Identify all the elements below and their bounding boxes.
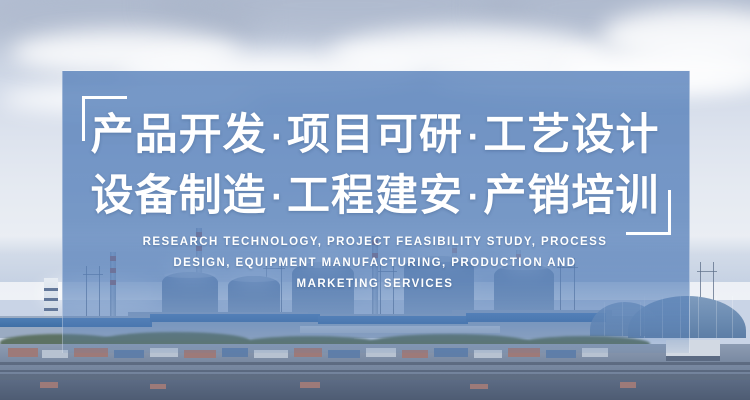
control-tower-band [44,308,58,311]
hangar-rib [698,296,699,338]
headline-separator-icon: · [267,120,287,155]
apartment-block-right-shadow [666,356,720,361]
subtitle-line-3: MARKETING SERVICES [140,274,610,295]
headline-segment-3: 工艺设计 [483,110,659,160]
headline-segment-5: 工程建安 [287,171,463,221]
subtitle-line-2: DESIGN, EQUIPMENT MANUFACTURING, PRODUCT… [140,253,610,274]
foreground-vehicle [470,384,488,389]
foreground-vehicle [150,384,166,389]
headline-separator-icon: · [463,180,483,215]
headline-separator-icon: · [267,180,287,215]
headline-segment-4: 设备制造 [91,171,267,221]
foreground-clutter [0,380,750,400]
rail-line-2 [0,370,750,372]
control-tower-band [44,298,58,301]
foreground-vehicle [300,382,320,388]
headline-segment-2: 项目可研 [287,110,463,160]
headline-block: 产品开发·项目可研·工艺设计 设备制造·工程建安·产销培训 [0,106,750,227]
control-tower-band [44,288,58,291]
hangar-rib [732,296,733,338]
city-row-building [8,348,38,357]
rail-line-1 [0,362,750,365]
headline-segment-1: 产品开发 [91,110,267,160]
industrial-service-banner: 产品开发·项目可研·工艺设计 设备制造·工程建安·产销培训 RESEARCH T… [0,0,750,400]
subtitle-line-1: RESEARCH TECHNOLOGY, PROJECT FEASIBILITY… [140,232,610,253]
foreground-vehicle [620,382,636,388]
headline-segment-6: 产销培训 [483,171,659,221]
foreground-vehicle [40,382,58,388]
headline-separator-icon: · [463,120,483,155]
hangar-rib [716,296,717,338]
headline-line-2: 设备制造·工程建安·产销培训 [0,167,750,228]
subtitle-block: RESEARCH TECHNOLOGY, PROJECT FEASIBILITY… [140,232,610,295]
headline-line-1: 产品开发·项目可研·工艺设计 [0,106,750,167]
